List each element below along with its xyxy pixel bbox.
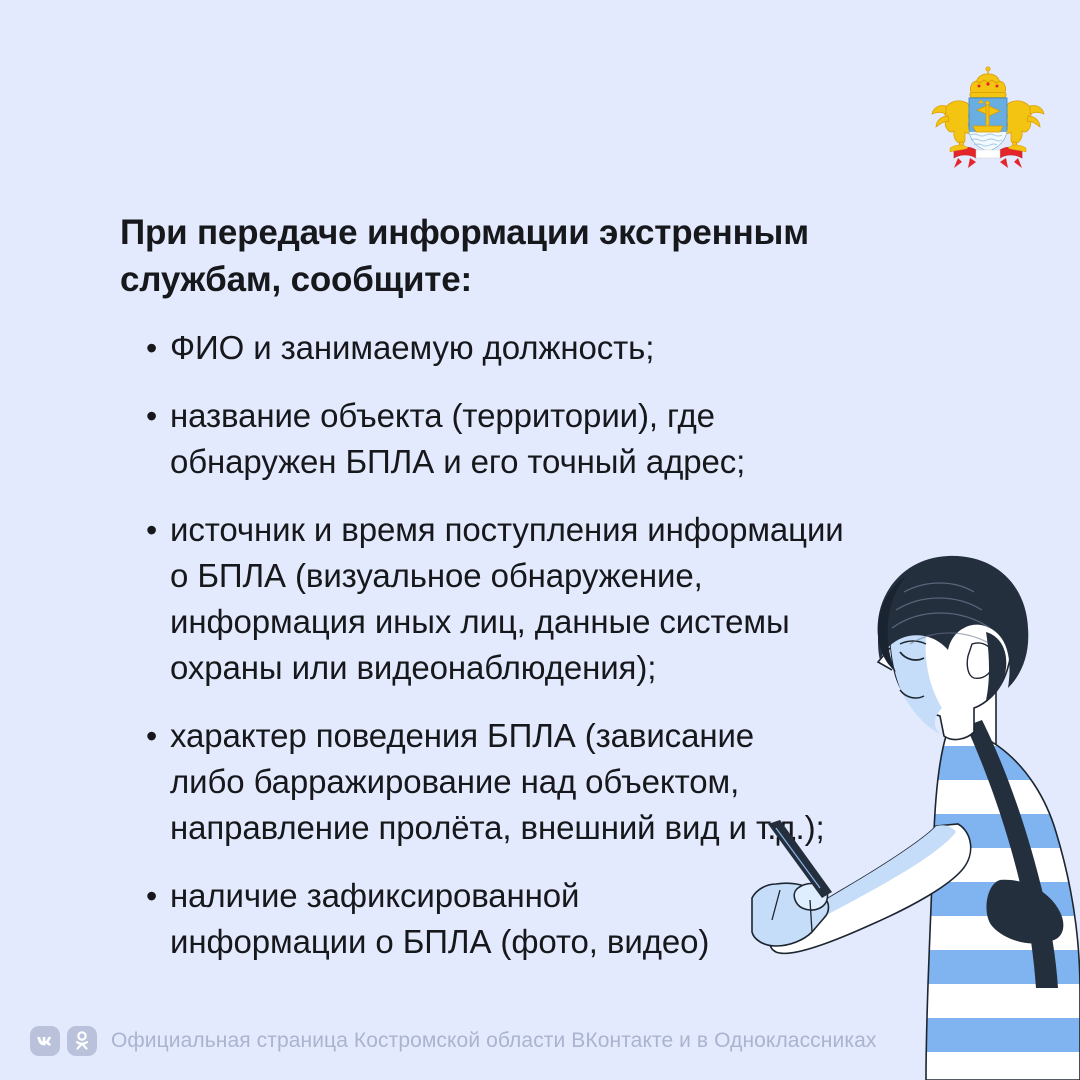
requirements-list: • ФИО и занимаемую должность; • название…	[140, 325, 970, 987]
bullet-marker-icon: •	[140, 507, 170, 553]
footer-label: Официальная страница Костромской области…	[111, 1026, 876, 1056]
bullet-marker-icon: •	[140, 393, 170, 439]
list-item-label: наличие зафиксированной информации о БПЛ…	[170, 873, 970, 965]
list-item: • наличие зафиксированной информации о Б…	[140, 873, 970, 965]
bullet-marker-icon: •	[140, 873, 170, 919]
bullet-marker-icon: •	[140, 325, 170, 371]
ok-icon[interactable]	[67, 1026, 97, 1056]
list-item-label: ФИО и занимаемую должность;	[170, 325, 970, 371]
poster-canvas: При передаче информации экстренным служб…	[0, 0, 1080, 1080]
list-item-label: характер поведения БПЛА (зависание либо …	[170, 713, 970, 851]
list-item: • название объекта (территории), где обн…	[140, 393, 970, 485]
list-item-label: источник и время поступления информации …	[170, 507, 970, 691]
list-item: • источник и время поступления информаци…	[140, 507, 970, 691]
vk-icon[interactable]	[30, 1026, 60, 1056]
list-item: • характер поведения БПЛА (зависание либ…	[140, 713, 970, 851]
bullet-marker-icon: •	[140, 713, 170, 759]
page-title: При передаче информации экстренным служб…	[120, 209, 880, 303]
footer-bar: Официальная страница Костромской области…	[30, 1024, 876, 1058]
list-item: • ФИО и занимаемую должность;	[140, 325, 970, 371]
coat-of-arms-emblem	[924, 62, 1052, 174]
list-item-label: название объекта (территории), где обнар…	[170, 393, 970, 485]
